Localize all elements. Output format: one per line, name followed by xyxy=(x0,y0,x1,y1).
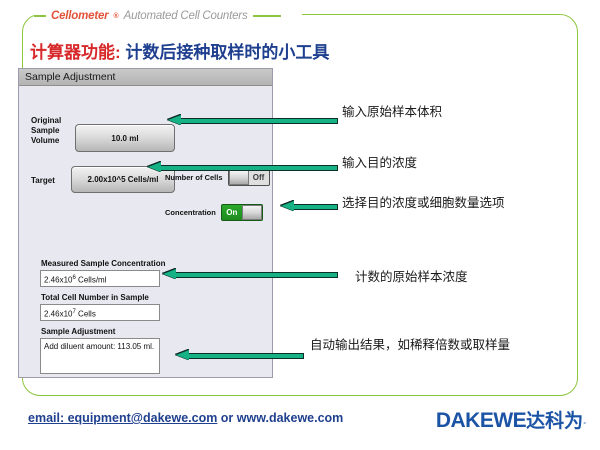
window-title: Sample Adjustment xyxy=(19,71,115,83)
concentration-label: Concentration xyxy=(165,208,216,217)
page-title-blue: 计数后接种取样时的小工具 xyxy=(125,43,329,62)
total-cell-number-label: Total Cell Number in Sample xyxy=(41,293,149,302)
arrow-head-left-icon xyxy=(281,201,294,211)
annotation-arrow-5 xyxy=(176,350,304,361)
arrow-head-left-icon xyxy=(176,350,189,360)
footer-website-link[interactable]: www.dakewe.com xyxy=(237,411,344,425)
arrow-shaft xyxy=(159,165,338,171)
measured-sample-concentration-value: 2.46x106 Cells/ml xyxy=(40,270,160,287)
arrow-shaft xyxy=(187,353,304,359)
footer-email-link[interactable]: email: equipment@dakewe.com xyxy=(28,411,217,425)
page-title-red: 计算器功能: xyxy=(30,43,121,62)
brand-registered-mark: ® xyxy=(113,13,118,20)
toggle-knob xyxy=(242,205,262,220)
brand-tagline: Automated Cell Counters xyxy=(124,10,248,22)
header-rule-right xyxy=(253,15,281,17)
footer-separator: or xyxy=(217,411,236,425)
concentration-toggle[interactable]: On xyxy=(221,204,263,221)
logo-chinese-text: 达科为 xyxy=(526,406,583,433)
total-value-unit: Cells xyxy=(76,310,96,319)
annotation-arrow-1 xyxy=(168,115,338,126)
sample-adjustment-result-label: Sample Adjustment xyxy=(41,327,115,336)
arrow-shaft xyxy=(174,272,338,278)
measured-value-base: 2.46x10 xyxy=(44,276,72,285)
original-sample-volume-label: Original Sample Volume xyxy=(31,116,71,146)
measured-value-unit: Cells/ml xyxy=(76,276,107,285)
concentration-toggle-row[interactable]: Concentration On xyxy=(165,204,263,221)
brand-header: Cellometer® Automated Cell Counters xyxy=(34,10,281,22)
sample-adjustment-result-value: Add diluent amount: 113.05 ml. xyxy=(40,338,160,374)
brand-name: Cellometer xyxy=(51,10,108,22)
footer-contact: email: equipment@dakewe.com or www.dakew… xyxy=(28,411,343,425)
arrow-head-left-icon xyxy=(168,115,181,125)
concentration-state: On xyxy=(222,208,242,217)
annotation-text-4: 计数的原始样本浓度 xyxy=(355,268,468,285)
annotation-arrow-3 xyxy=(281,201,338,212)
original-sample-volume-button[interactable]: 10.0 ml xyxy=(75,124,175,152)
arrow-shaft xyxy=(292,204,338,210)
annotation-text-5: 自动输出结果，如稀释倍数或取样量 xyxy=(310,336,550,353)
total-value-base: 2.46x10 xyxy=(44,310,72,319)
window-titlebar: Sample Adjustment xyxy=(19,69,272,86)
logo-latin-text: DAKEWE xyxy=(436,409,526,433)
measured-sample-concentration-label: Measured Sample Concentration xyxy=(41,259,165,268)
annotation-arrow-4 xyxy=(163,269,338,280)
header-rule-left xyxy=(34,15,46,17)
annotation-text-2: 输入目的浓度 xyxy=(342,154,417,171)
number-of-cells-label: Number of Cells xyxy=(165,173,223,182)
target-label: Target xyxy=(31,176,55,186)
logo-registered-mark: ° xyxy=(583,422,586,429)
number-of-cells-state: Off xyxy=(249,173,269,182)
annotation-text-3: 选择目的浓度或细胞数量选项 xyxy=(342,194,552,211)
total-cell-number-value: 2.46x107 Cells xyxy=(40,304,160,321)
annotation-text-1: 输入原始样本体积 xyxy=(342,103,442,120)
arrow-shaft xyxy=(179,118,338,124)
arrow-head-left-icon xyxy=(163,269,176,279)
annotation-arrow-2 xyxy=(148,162,338,173)
arrow-head-left-icon xyxy=(148,162,161,172)
dakewe-logo: DAKEWE 达科为 ° xyxy=(436,406,586,433)
window-body: Original Sample Volume 10.0 ml Target 2.… xyxy=(19,86,272,377)
page-title: 计算器功能: 计数后接种取样时的小工具 xyxy=(30,38,329,63)
